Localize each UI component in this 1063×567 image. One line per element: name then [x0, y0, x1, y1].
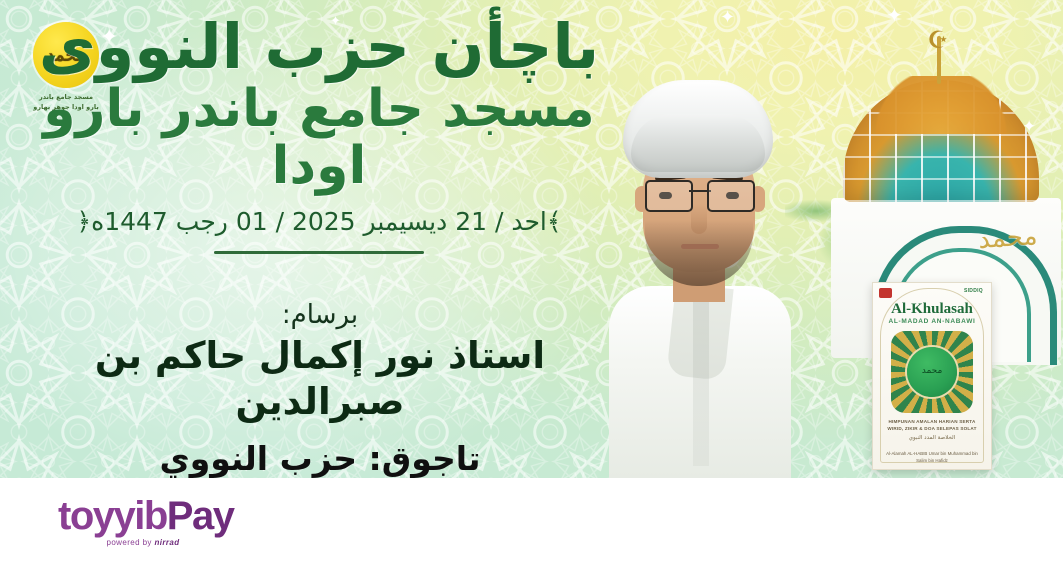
- headline-line-2: مسجد جامع باندر بارو اودا: [34, 81, 604, 195]
- divider-rule: [214, 251, 424, 254]
- speaker-name: استاذ نور إكمال حاكم بن صبرالدين: [20, 333, 620, 426]
- book-cover: SIDDIQ Al-Khulasah AL-MADAD AN-NABAWI مح…: [872, 282, 992, 470]
- crescent-icon: ☪: [925, 28, 951, 54]
- speaker-block: برسام: استاذ نور إكمال حاكم بن صبرالدين …: [20, 300, 620, 478]
- book-medallion: محمد: [891, 331, 973, 413]
- poster-root: ✦ ✦ ✦ ✦ ✦ ✦ ✦ ☪ محمد محمد مسجد جامع باند…: [0, 0, 1063, 567]
- sparkle-icon: ✦: [886, 6, 903, 26]
- book-description: HIMPUNAN AMALAN HARIAN SERTA WIRID, ZIKI…: [881, 419, 983, 433]
- book-title: Al-Khulasah: [873, 301, 991, 318]
- book-tag-icon: [879, 288, 892, 298]
- toyyibpay-powered-by: powered by nirrad: [58, 538, 228, 547]
- footer-bar: toyyibPay powered by nirrad Imbas & Sumb…: [0, 478, 1063, 567]
- lens-left: [645, 180, 693, 212]
- speaker-portrait: [575, 80, 825, 478]
- book-subtitle: AL-MADAD AN-NABAWI: [873, 318, 991, 325]
- lens-right: [707, 180, 755, 212]
- book-brand: SIDDIQ: [964, 288, 983, 294]
- powered-brand: nirrad: [154, 538, 179, 547]
- powered-prefix: powered by: [106, 538, 154, 547]
- toyyibpay-brand-light: toyyib: [58, 494, 167, 538]
- toyyibpay-wordmark: toyyibPay: [58, 496, 228, 536]
- dome-petal-detail: [851, 76, 1031, 134]
- event-topic: تاجوق: حزب النووي: [20, 438, 620, 478]
- poster-background: ✦ ✦ ✦ ✦ ✦ ✦ ✦ ☪ محمد محمد مسجد جامع باند…: [0, 0, 1063, 478]
- glasses-icon: [645, 180, 755, 210]
- toyyibpay-brand-bold: Pay: [167, 494, 234, 538]
- medallion-calligraphy: محمد: [907, 347, 957, 397]
- book-arabic-note: الخلاصة المدد النبوي: [881, 435, 983, 441]
- mouth: [681, 244, 719, 249]
- headline-line-1: باچأن حزب النووى: [34, 14, 604, 79]
- speaker-with-label: برسام:: [20, 300, 620, 331]
- book-author: Al-Alamah AL-HABIB Umar bin Muhammad bin…: [881, 451, 983, 464]
- toyyibpay-logo[interactable]: toyyibPay powered by nirrad: [58, 496, 228, 547]
- event-date: ﴾احد / 21 ديسيمبر 2025 / 01 رجب 1447ه﴿: [34, 207, 604, 237]
- turban: [623, 80, 773, 178]
- robe-collar: [609, 286, 791, 478]
- sparkle-icon: ✦: [720, 8, 735, 26]
- headline-block: باچأن حزب النووى مسجد جامع باندر بارو او…: [34, 14, 604, 254]
